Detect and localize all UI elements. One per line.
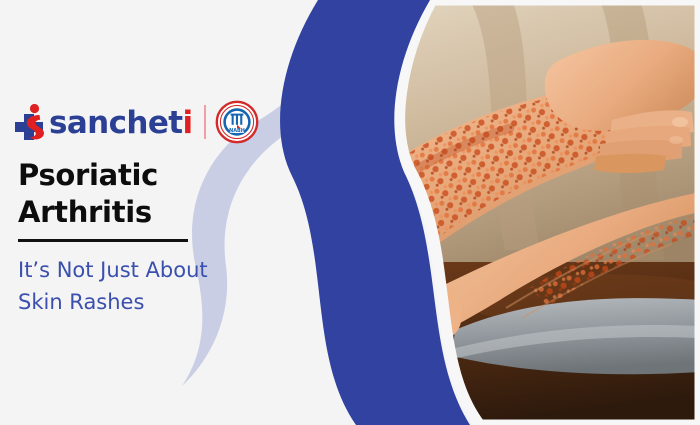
psoriatic-arthritis-banner: sancheti NABH Psoriatic xyxy=(0,0,700,425)
wordmark-text: sanchet xyxy=(49,105,183,141)
wordmark-last-letter: i xyxy=(183,105,193,141)
headline-line-1: Psoriatic xyxy=(18,158,158,192)
headline-line-2: Arthritis xyxy=(18,195,152,229)
page-title: PsoriaticArthritis xyxy=(18,157,278,231)
sancheti-brand-lockup[interactable]: sancheti xyxy=(14,102,193,142)
subtitle-line-2: Skin Rashes xyxy=(18,290,144,314)
subtitle-line-1: It’s Not Just About xyxy=(18,258,208,282)
brand-logo-row: sancheti NABH xyxy=(14,96,259,148)
nabh-seal-label: NABH xyxy=(229,128,245,134)
logo-divider xyxy=(204,105,206,139)
page-subtitle: It’s Not Just AboutSkin Rashes xyxy=(18,255,268,318)
sancheti-wordmark: sancheti xyxy=(49,108,193,139)
headline-divider-rule xyxy=(18,239,188,242)
banner-content: sancheti NABH Psoriatic xyxy=(0,0,300,425)
sancheti-cross-figure-icon xyxy=(14,102,48,142)
nabh-accreditation-seal-icon: NABH xyxy=(215,100,259,144)
